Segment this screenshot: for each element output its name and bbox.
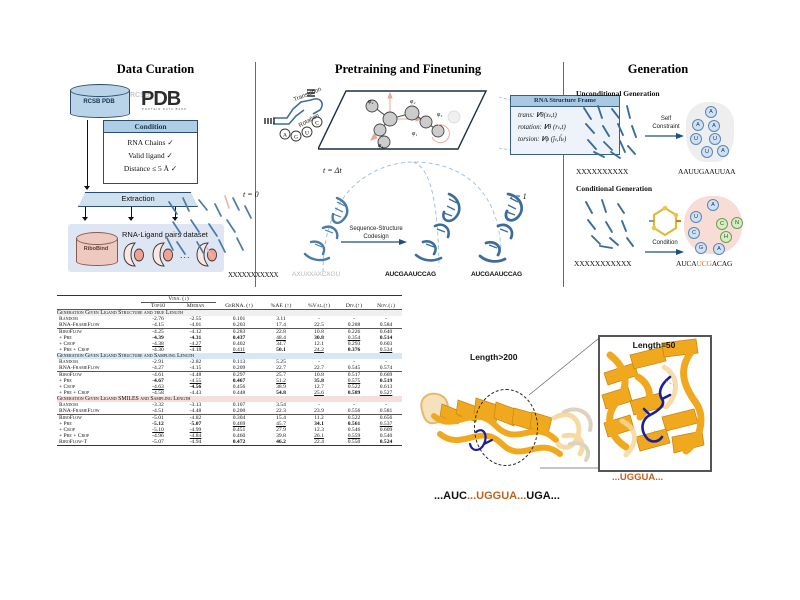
uncond-nt-3: A [708, 120, 720, 132]
cond-nt-U: U [690, 211, 702, 223]
sequence-end: AUCGAAUCCAG [471, 271, 522, 278]
cond-nt-A1: A [707, 199, 719, 211]
results-table-sections: Generation Given Ligand Structure and tr… [57, 310, 402, 446]
rna-inset-structure [600, 337, 708, 468]
unconditional-generation-title: Unconditional Generation [576, 89, 660, 98]
results-table: Vina. (↓) GeRNA. (↑) %AF. (↑) %Val.(↑) D… [57, 295, 402, 446]
figure-page: Data Curation RCSB PDB RCSB PDB PROTEIN … [0, 0, 800, 600]
noise-scatter-cond [580, 196, 642, 254]
big-seq-suffix: UGA... [526, 490, 560, 502]
table-cell-value: 46.2 [262, 439, 300, 446]
ligand-condition-glyph [648, 204, 682, 238]
cond-ligand-nt-C: C [716, 218, 728, 230]
condition-label: Condition [644, 240, 686, 248]
col-header-vina-top10: Top10 [141, 303, 175, 310]
uncond-input-sequence: XXXXXXXXXX [576, 167, 628, 176]
condition-box-header: Condition [104, 121, 197, 133]
cond-ligand-nt-N: N [731, 217, 743, 229]
col-header-div: Div.(↑) [338, 296, 370, 310]
uncond-nt-1: A [705, 106, 717, 118]
length-inset-label: Length=50 [600, 340, 708, 350]
cond-nt-G: G [695, 242, 707, 254]
pdb-database-label: RCSB PDB [70, 99, 128, 105]
uncond-nt-4: U [690, 133, 702, 145]
cond-output-highlight: UCG [696, 259, 711, 268]
uncond-output-sequence: AAUUGAAUUAA [678, 167, 735, 176]
sequence-mid: AUCGAAUCCAG [385, 271, 436, 278]
cond-output-prefix: AUCA [676, 259, 696, 268]
uncond-nt-2: A [692, 119, 704, 131]
big-seq-highlight: ...UGGUA... [467, 490, 526, 502]
self-constraint-line1: Self [661, 116, 671, 122]
panel-divider-left [255, 62, 256, 287]
uncond-nt-6: U [701, 146, 713, 158]
sequence-noisy: AXUXXAXCXGU [292, 271, 340, 278]
col-header-af: %AF. (↑) [262, 296, 300, 310]
ligand-glyph-1 [122, 241, 148, 268]
arrow-extract-2-head [128, 217, 134, 221]
panel-title-generation: Generation [568, 62, 748, 77]
table-cell-method: RiboFlow-T [57, 439, 141, 446]
pdb-database-cylinder-top [70, 84, 130, 97]
condition-box: Condition RNA Chains ✓ Valid ligand ✓ Di… [103, 120, 198, 184]
results-table-container: Vina. (↓) GeRNA. (↑) %AF. (↑) %Val.(↑) D… [57, 295, 402, 446]
col-header-nov: Nov.(↓) [370, 296, 402, 310]
arrow-db-to-condition-head [84, 186, 90, 190]
panel-pretraining-finetuning: Pretraining and Finetuning A [263, 62, 553, 290]
cond-output-suffix: ACAG [712, 259, 732, 268]
self-constraint-arrow [645, 132, 687, 140]
table-cell-value: -5.07 [141, 439, 175, 446]
cond-nt-A2: A [713, 243, 725, 255]
rna-structure-final [468, 188, 543, 268]
condition-item-rna-chains: RNA Chains ✓ [104, 136, 197, 149]
codesign-line1: Sequence-Structure [349, 226, 402, 232]
condition-item-valid-ligand: Valid ligand ✓ [104, 149, 197, 162]
arrow-extract-1-head [82, 217, 88, 221]
cond-ligand-nt-H: H [720, 231, 732, 243]
col-header-gernas: GeRNA. (↑) [216, 296, 262, 310]
table-row: RiboFlow-T-5.07-4.940.47246.222.40.5500.… [57, 439, 402, 446]
col-group-vina: Vina. (↓) [141, 296, 216, 303]
condition-arrow [645, 248, 687, 256]
table-cell-value: 0.550 [338, 439, 370, 446]
time-label-delta: t = Δt [323, 166, 342, 175]
overview-figure: Data Curation RCSB PDB RCSB PDB PROTEIN … [58, 62, 748, 292]
table-cell-value: 0.472 [216, 439, 262, 446]
noise-scatter-t0 [163, 192, 253, 262]
table-cell-value: 22.4 [300, 439, 338, 446]
cond-input-sequence: XXXXXXXXXXX [574, 259, 631, 268]
big-structure-sequence: ...AUC...UGGUA...UGA... [434, 490, 560, 502]
uncond-nt-5: U [709, 133, 721, 145]
sequence-input-x: XXXXXXXXXXX [228, 271, 278, 279]
table-cell-value: -4.94 [175, 439, 216, 446]
pdb-logo-subtitle: PROTEIN DATA BANK [142, 108, 187, 111]
table-group-header-row: Vina. (↓) GeRNA. (↑) %AF. (↑) %Val.(↑) D… [57, 296, 402, 303]
col-header-vina-median: Median [175, 303, 216, 310]
conditional-generation-title: Conditional Generation [576, 184, 652, 193]
uncond-nt-7: A [717, 145, 729, 157]
codesign-arrow [341, 238, 411, 246]
self-constraint-label: Self Constraint [644, 116, 688, 131]
ribobind-label: RiboBind [76, 246, 116, 252]
panel-generation: Generation Unconditional Generation Self… [568, 62, 748, 290]
self-constraint-line2: Constraint [652, 124, 679, 130]
col-header-val: %Val.(↑) [300, 296, 338, 310]
results-table-body: Vina. (↓) GeRNA. (↑) %AF. (↑) %Val.(↑) D… [57, 296, 402, 310]
ribobind-cylinder-top [76, 232, 118, 245]
rna-structure-figure: Length>200 [412, 300, 798, 540]
cond-nt-C: C [688, 227, 700, 239]
arrow-db-to-condition [87, 120, 88, 188]
zoomed-inset-panel: Length=50 [598, 335, 712, 472]
inset-sequence: ...UGGUA... [612, 472, 663, 483]
condition-item-distance: Distance ≤ 5 Å ✓ [104, 162, 197, 175]
table-cell-value: 0.524 [370, 439, 402, 446]
panel-title-data-curation: Data Curation [58, 62, 253, 77]
big-seq-prefix: ...AUC [434, 490, 467, 502]
noise-scatter-uncond [578, 102, 644, 162]
cond-output-sequence: AUCAUCGACAG [676, 259, 732, 268]
